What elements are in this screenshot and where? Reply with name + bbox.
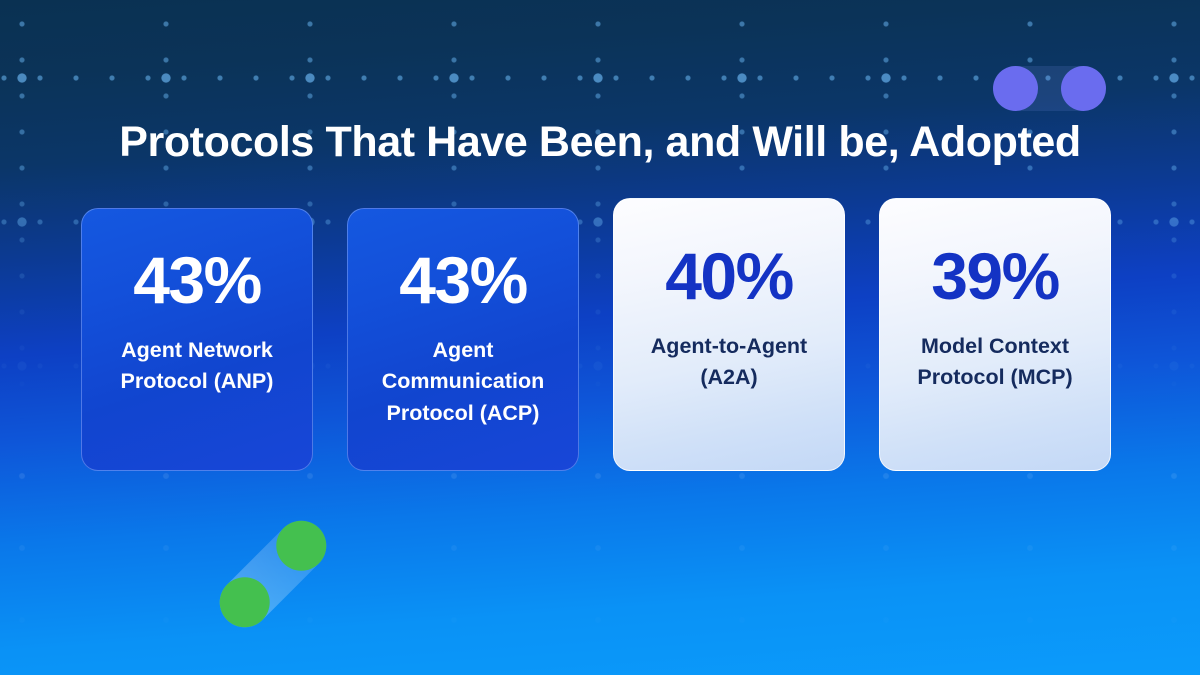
stat-label: Agent-to-Agent (A2A) bbox=[614, 331, 844, 394]
stat-card-mcp: 39% Model Context Protocol (MCP) bbox=[879, 198, 1111, 471]
toggle-switch-icon bbox=[993, 66, 1106, 111]
slide-canvas: Protocols That Have Been, and Will be, A… bbox=[0, 0, 1200, 675]
stat-label: Model Context Protocol (MCP) bbox=[880, 331, 1110, 394]
stat-card-anp: 43% Agent Network Protocol (ANP) bbox=[81, 208, 313, 471]
stat-value: 39% bbox=[931, 243, 1059, 309]
stat-label: Agent Communication Protocol (ACP) bbox=[348, 335, 578, 429]
toggle-knob-left-icon bbox=[993, 66, 1038, 111]
stat-value: 43% bbox=[133, 247, 261, 313]
stat-value: 40% bbox=[665, 243, 793, 309]
toggle-knob-right-icon bbox=[1061, 66, 1106, 111]
stat-card-a2a: 40% Agent-to-Agent (A2A) bbox=[613, 198, 845, 471]
stat-value: 43% bbox=[399, 247, 527, 313]
stat-card-acp: 43% Agent Communication Protocol (ACP) bbox=[347, 208, 579, 471]
page-title: Protocols That Have Been, and Will be, A… bbox=[0, 118, 1200, 167]
stat-label: Agent Network Protocol (ANP) bbox=[82, 335, 312, 398]
stat-card-list: 43% Agent Network Protocol (ANP) 43% Age… bbox=[81, 198, 1119, 473]
toggle-switch-diagonal-icon bbox=[195, 496, 352, 653]
